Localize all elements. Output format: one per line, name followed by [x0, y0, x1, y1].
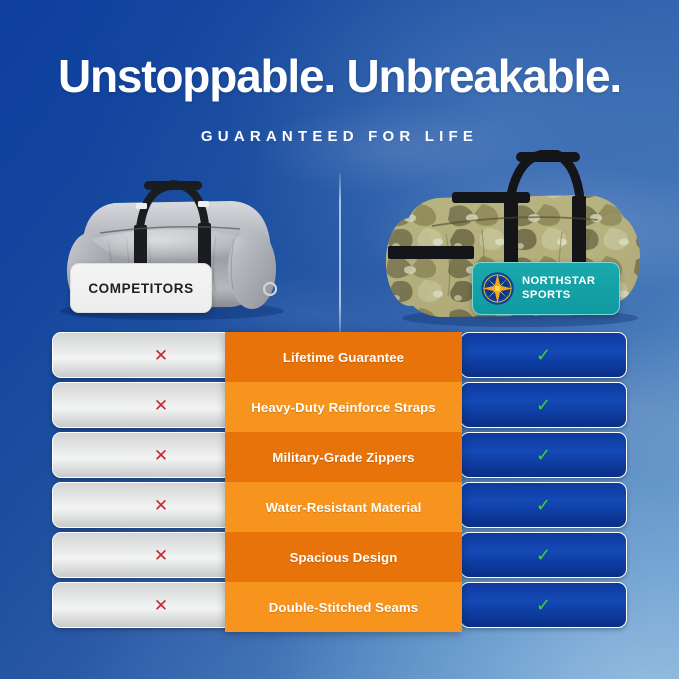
cross-icon: ✕: [154, 547, 168, 564]
check-icon: ✓: [536, 496, 551, 514]
competitors-label-chip: COMPETITORS: [70, 263, 212, 313]
check-icon: ✓: [536, 446, 551, 464]
page-subtitle: GUARANTEED FOR LIFE: [0, 128, 679, 145]
cross-icon: ✕: [154, 497, 168, 514]
check-icon: ✓: [536, 396, 551, 414]
feature-label: Water-Resistant Material: [225, 482, 462, 532]
feature-label: Heavy-Duty Reinforce Straps: [225, 382, 462, 432]
page-title: Unstoppable. Unbreakable.: [0, 53, 679, 99]
brand-name-line2: SPORTS: [522, 289, 571, 301]
compass-star-icon: [480, 271, 515, 306]
check-icon: ✓: [536, 596, 551, 614]
brand-name: NORTHSTAR SPORTS: [522, 275, 595, 302]
comparison-table: ✕ ✓ ✕ ✓ ✕ ✓ ✕: [0, 332, 679, 632]
feature-label: Spacious Design: [225, 532, 462, 582]
feature-label: Double-Stitched Seams: [225, 582, 462, 632]
feature-label: Lifetime Guarantee: [225, 332, 462, 382]
brand-cell: ✓: [460, 332, 627, 378]
brand-cell: ✓: [460, 582, 627, 628]
promo-comparison-graphic: Unstoppable. Unbreakable. GUARANTEED FOR…: [0, 0, 679, 679]
feature-label: Military-Grade Zippers: [225, 432, 462, 482]
brand-cell: ✓: [460, 532, 627, 578]
feature-label-column: Lifetime Guarantee Heavy-Duty Reinforce …: [225, 332, 462, 632]
brand-badge: NORTHSTAR SPORTS: [472, 262, 620, 315]
brand-name-line1: NORTHSTAR: [522, 275, 595, 287]
column-divider: [339, 173, 341, 332]
brand-cell: ✓: [460, 432, 627, 478]
brand-cell: ✓: [460, 382, 627, 428]
brand-cell: ✓: [460, 482, 627, 528]
cross-icon: ✕: [154, 347, 168, 364]
check-icon: ✓: [536, 546, 551, 564]
cross-icon: ✕: [154, 597, 168, 614]
cross-icon: ✕: [154, 397, 168, 414]
check-icon: ✓: [536, 346, 551, 364]
competitors-label-text: COMPETITORS: [88, 281, 193, 296]
cross-icon: ✕: [154, 447, 168, 464]
